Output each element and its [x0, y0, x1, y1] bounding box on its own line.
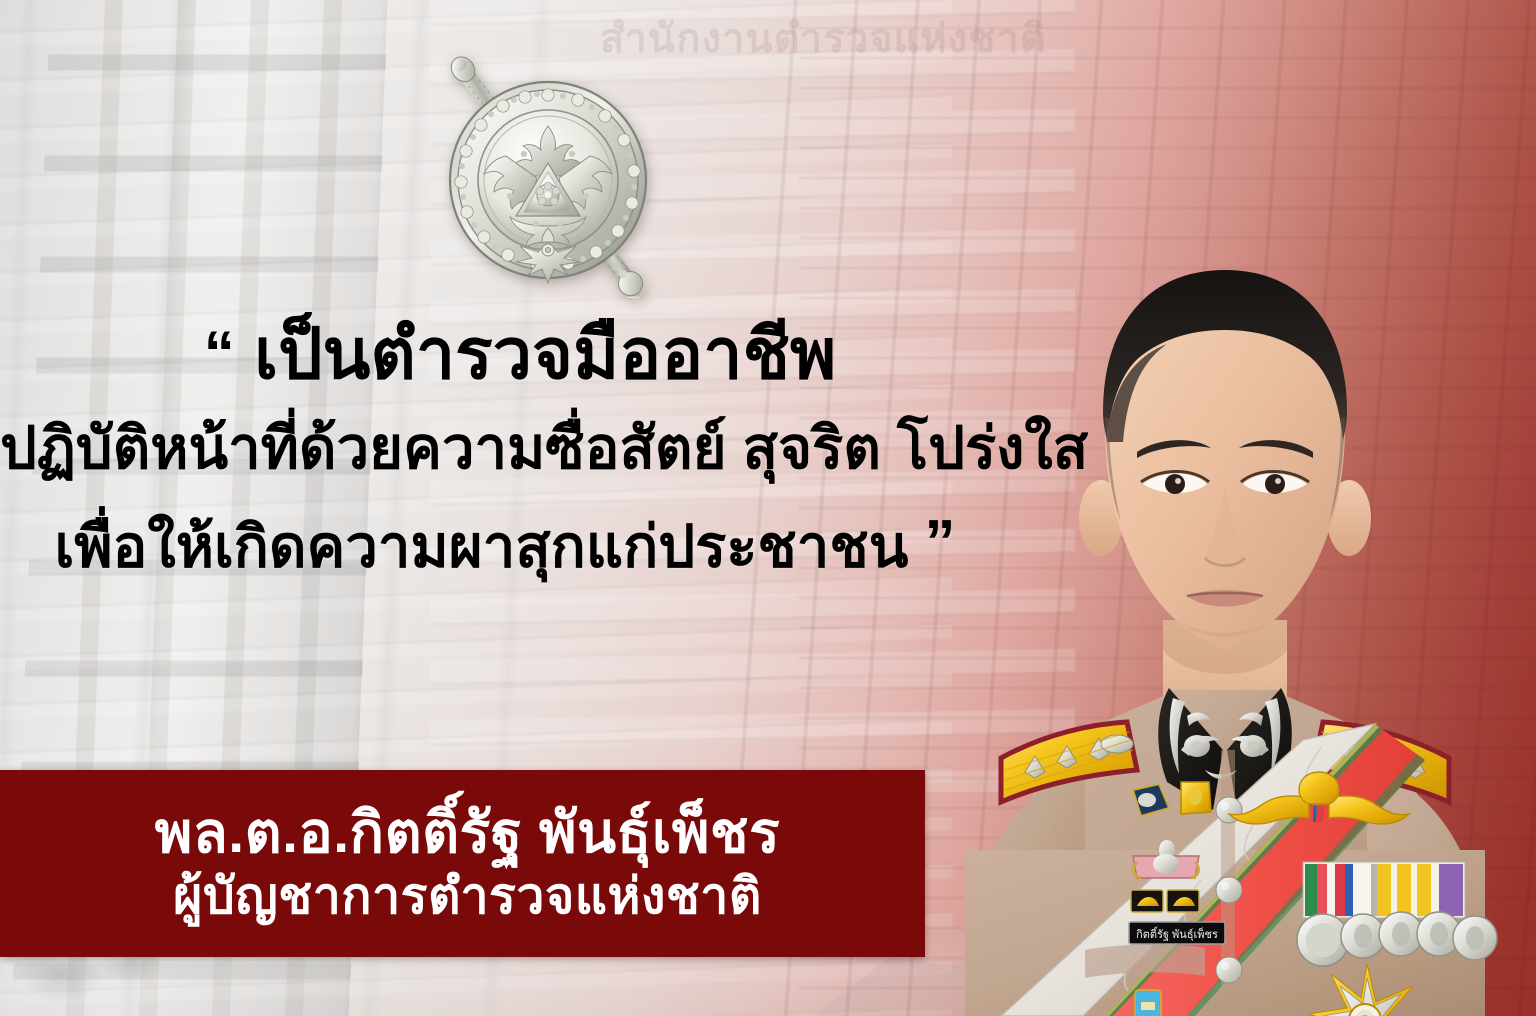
name-banner: พล.ต.อ.กิตติ์รัฐ พันธุ์เพ็ชร ผู้บัญชาการ…: [0, 770, 925, 957]
poster-root: สำนักงานตำรวจแห่งชาติ: [0, 0, 1536, 1016]
quote-line-1-text: เป็นตำรวจมืออาชีพ: [254, 315, 836, 393]
quote-line-1: “ เป็นตำรวจมืออาชีพ: [0, 318, 1010, 391]
royal-thai-police-emblem-icon: [398, 28, 698, 328]
quote-line-2: ปฏิบัติหน้าที่ด้วยความซื่อสัตย์ สุจริต โ…: [0, 419, 1010, 479]
quote-line-3: เพื่อให้เกิดความผาสุกแก่ประชาชน ”: [0, 511, 1010, 578]
officer-name: พล.ต.อ.กิตติ์รัฐ พันธุ์เพ็ชร: [155, 804, 780, 864]
portrait-photo: กิตติ์รัฐ พันธุ์เพ็ชร: [905, 150, 1536, 1016]
quote-block: “ เป็นตำรวจมืออาชีพ ปฏิบัติหน้าที่ด้วยคว…: [0, 318, 1010, 578]
quote-line-3-text: เพื่อให้เกิดความผาสุกแก่ประชาชน: [55, 515, 909, 580]
quote-open-mark: “: [204, 319, 235, 388]
officer-title: ผู้บัญชาการตำรวจแห่งชาติ: [173, 870, 762, 923]
uniform-nameplate-text: กิตติ์รัฐ พันธุ์เพ็ชร: [1136, 926, 1218, 941]
